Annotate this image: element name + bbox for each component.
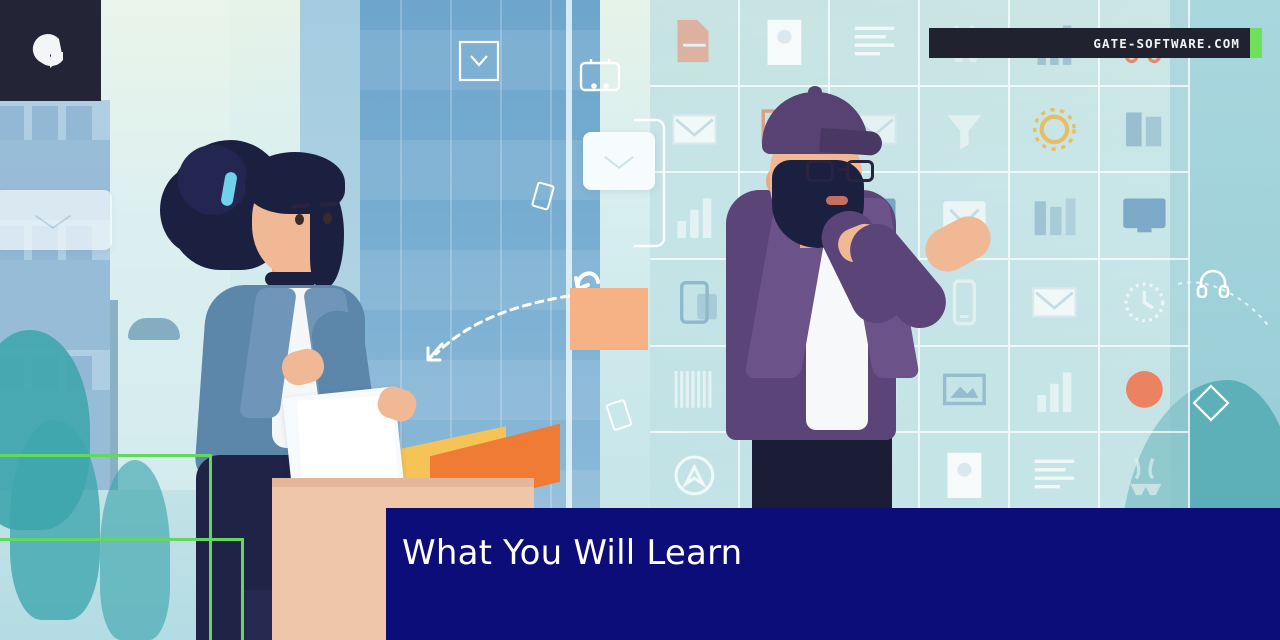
url-bar-accent-stripe <box>1250 28 1262 58</box>
icon-wall-cell <box>1010 173 1100 260</box>
page-title: What You Will Learn <box>402 533 742 573</box>
icon-wall-cell <box>830 0 920 87</box>
dotted-path-icon <box>1178 276 1274 336</box>
clock-icon <box>1118 277 1171 328</box>
envelope-card-icon <box>0 190 112 250</box>
icon-wall-cell <box>1100 260 1190 347</box>
text-lines-icon <box>1028 450 1081 501</box>
icon-wall-cell <box>1010 347 1100 434</box>
compass-icon <box>668 450 721 501</box>
icon-wall-cell <box>1100 433 1190 520</box>
icon-wall-cell <box>650 433 740 520</box>
icon-wall-cell <box>920 347 1010 434</box>
glasses-lens-left <box>806 160 834 182</box>
monitor-icon <box>1118 190 1171 241</box>
text-lines-icon <box>848 17 901 68</box>
bar-chart-icon <box>1028 364 1081 415</box>
icon-wall-cell <box>920 433 1010 520</box>
icon-wall-cell <box>740 0 830 87</box>
icon-wall-cell <box>1100 347 1190 434</box>
bar-chart-icon <box>668 190 721 241</box>
icon-wall-cell <box>650 0 740 87</box>
barcode-icon <box>668 364 721 415</box>
monitor-outline-icon <box>578 56 622 96</box>
title-banner: What You Will Learn <box>386 508 1280 640</box>
file-page-icon <box>938 450 991 501</box>
icon-wall-cell <box>1010 433 1100 520</box>
icon-wall-cell <box>1010 87 1100 174</box>
circle-dot-icon <box>1118 364 1171 415</box>
envelope-icon <box>668 104 721 155</box>
envelope-outline-icon <box>458 40 500 82</box>
icon-wall-cell <box>920 87 1010 174</box>
books-icon <box>1028 190 1081 241</box>
gear-icon <box>1028 104 1081 155</box>
book-icon <box>1118 104 1171 155</box>
tower-edge-highlight <box>566 0 572 520</box>
choker-necklace <box>265 272 317 286</box>
funnel-icon <box>938 104 991 155</box>
slide-stage: GATE-SOFTWARE.COM What You Will Learn <box>0 0 1280 640</box>
envelope-icon <box>1028 277 1081 328</box>
glasses-lens-right <box>846 160 874 182</box>
icon-wall-cell <box>1010 260 1100 347</box>
card-connector-icon <box>630 118 670 258</box>
desk-lamp-shade <box>128 318 180 340</box>
image-icon <box>938 364 991 415</box>
green-frame-inner <box>0 538 244 640</box>
file-page-icon <box>758 17 811 68</box>
lightbulb-icon <box>1118 450 1171 501</box>
orange-panel <box>570 288 648 350</box>
icon-wall-cell <box>1100 87 1190 174</box>
icon-wall-cell <box>1100 173 1190 260</box>
mobile-icon <box>668 277 721 328</box>
website-url-bar: GATE-SOFTWARE.COM <box>929 28 1250 58</box>
website-url-label: GATE-SOFTWARE.COM <box>1093 36 1240 51</box>
gate-logo-icon[interactable] <box>0 0 101 101</box>
document-icon <box>668 17 721 68</box>
